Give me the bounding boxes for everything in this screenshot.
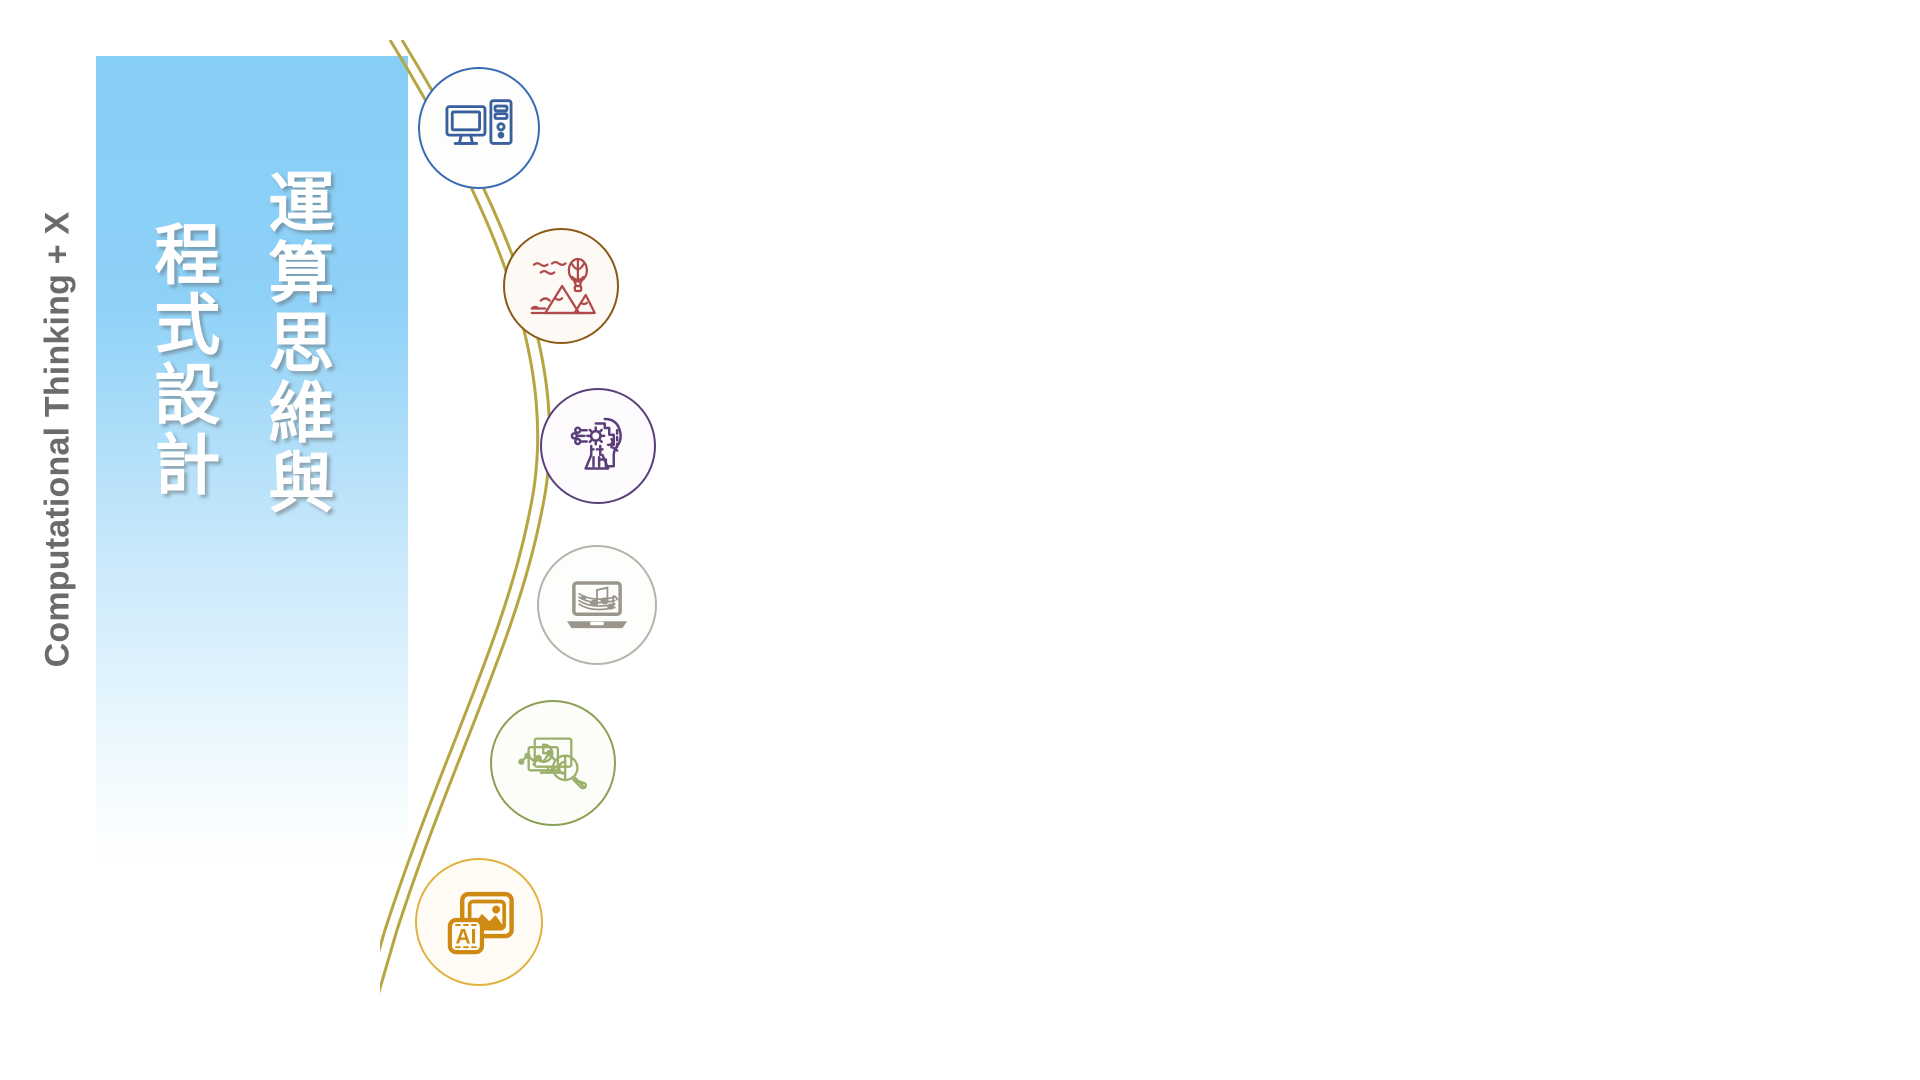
desktop-computer-icon (441, 90, 517, 166)
program-label: The Program of Computer Music and Audio … (705, 583, 1563, 621)
program-label: The Program of Application of Informatio… (604, 108, 1495, 148)
cjk-title-column-right: 運算思維與 (262, 168, 329, 518)
program-icon-badge[interactable] (540, 388, 656, 504)
program-label: The Program of Big Data in Education (670, 738, 1379, 783)
program-icon-badge[interactable]: AI (415, 858, 543, 986)
ai-head-gear-icon (562, 410, 634, 482)
data-analytics-icon (514, 724, 592, 802)
vertical-axis-label: Computational Thinking + X (39, 130, 78, 750)
cjk-title-column-left: 程式設計 (148, 220, 215, 500)
svg-text:AI: AI (455, 925, 476, 948)
mountain-balloon-icon (525, 250, 597, 322)
program-label: The Program of Artificial Intelligence A… (695, 426, 1587, 462)
ai-image-icon: AI (440, 883, 519, 962)
program-label: The Program of Integrating Digital Techn… (663, 268, 1666, 304)
program-label: The Program of AI and Digital Art (600, 896, 1218, 941)
laptop-music-icon (560, 568, 634, 642)
program-icon-badge[interactable] (490, 700, 616, 826)
program-icon-badge[interactable] (537, 545, 657, 665)
program-icon-badge[interactable] (503, 228, 619, 344)
program-icon-badge[interactable] (418, 67, 540, 189)
